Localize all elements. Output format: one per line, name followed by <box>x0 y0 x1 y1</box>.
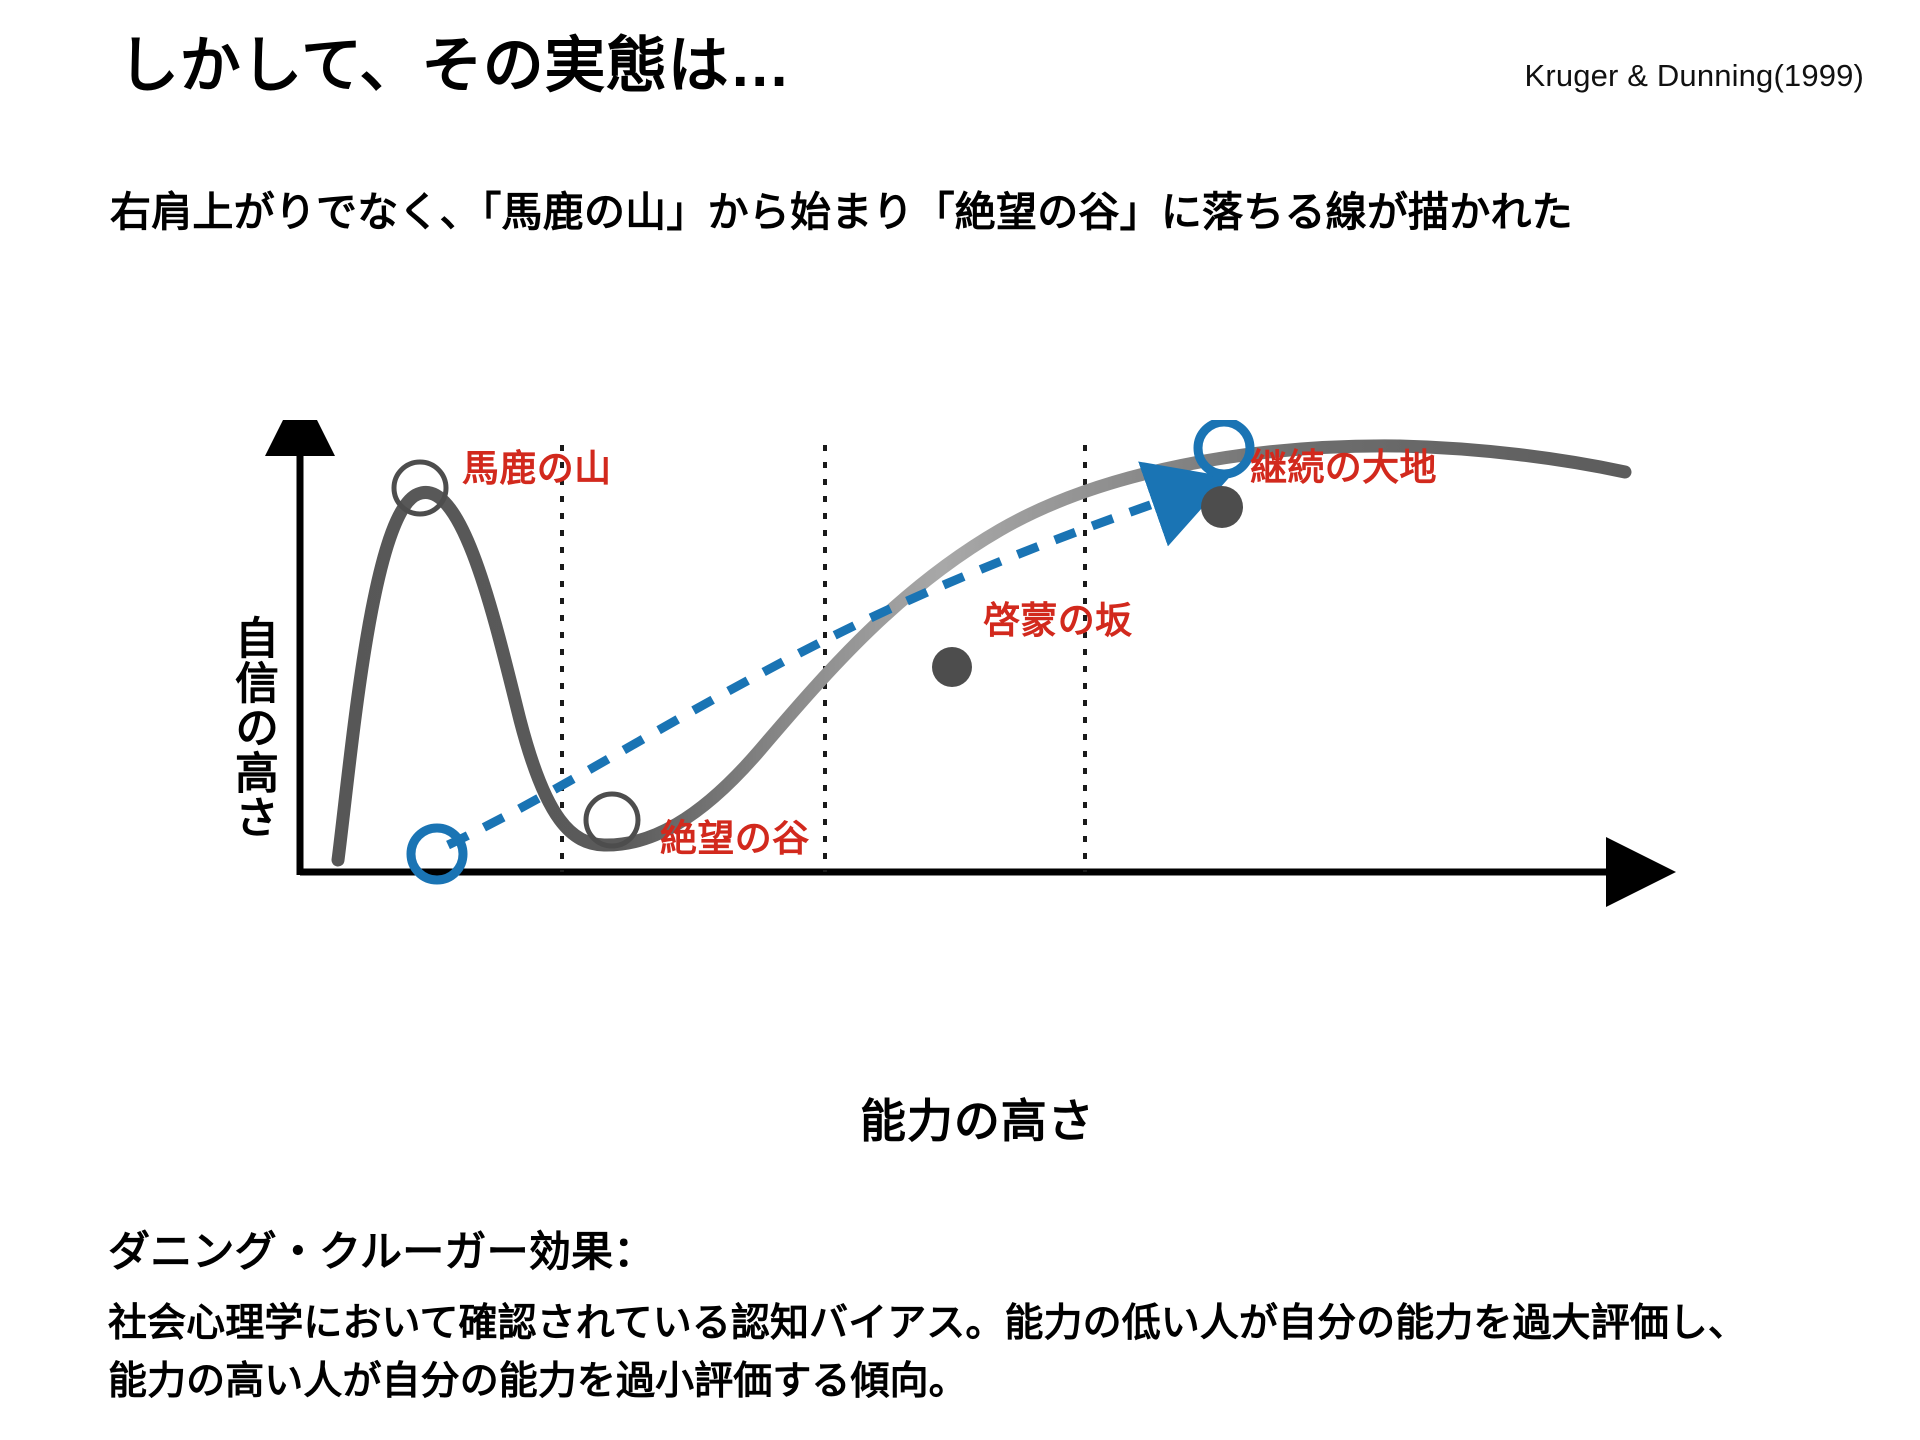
subtitle-text: 右肩上がりでなく、「馬鹿の山」から始まり「絶望の谷」に落ちる線が描かれた <box>110 178 1573 238</box>
marker-blue-high <box>1198 422 1250 474</box>
annotation-slope: 啓蒙の坂 <box>983 590 1132 644</box>
chart-svg <box>0 420 1920 1160</box>
page-title: しかして、その実態は… <box>118 32 791 99</box>
dunning-kruger-chart: 自信の高さ 能力の高さ 馬鹿の山 絶望の谷 啓蒙の坂 継続の大地 <box>0 420 1920 1160</box>
footer-description-line-1: 社会心理学において確認されている認知バイアス。能力の低い人が自分の能力を過大評価… <box>108 1292 1747 1348</box>
annotation-plateau: 継続の大地 <box>1250 437 1437 491</box>
marker-valley-hollow <box>586 794 638 846</box>
footer-heading: ダニング・クルーガー効果： <box>108 1218 655 1279</box>
x-axis-title: 能力の高さ <box>860 1085 1095 1151</box>
slide-canvas: しかして、その実態は… Kruger & Dunning(1999) 右肩上がり… <box>0 0 1920 1440</box>
footer-description-line-2: 能力の高い人が自分の能力を過小評価する傾向。 <box>108 1350 968 1406</box>
self-awareness-dashed-arrow <box>448 498 1170 845</box>
y-axis-title: 自信の高さ <box>213 615 275 839</box>
marker-slope-filled <box>932 647 972 687</box>
annotation-peak: 馬鹿の山 <box>462 438 611 492</box>
citation-reference: Kruger & Dunning(1999) <box>1525 58 1864 94</box>
marker-plateau-filled <box>1201 486 1243 528</box>
annotation-valley: 絶望の谷 <box>660 808 809 862</box>
